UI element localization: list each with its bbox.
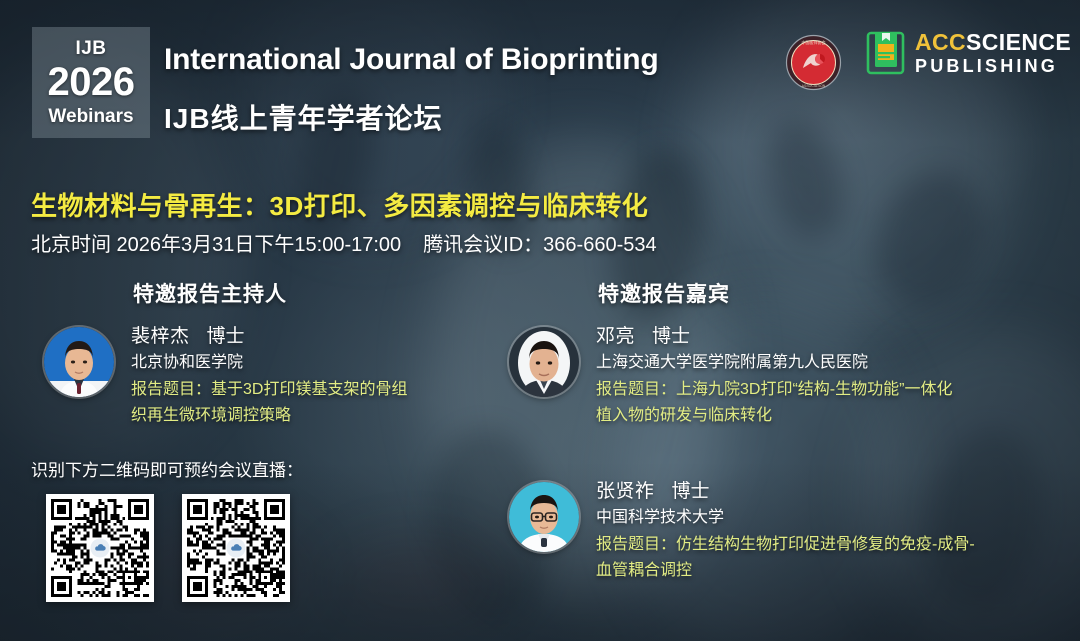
speaker-name-line: 张贤祚博士 bbox=[596, 482, 975, 501]
talk-line-1: 报告题目：上海九院3D打印“结构-生物功能”一体化 bbox=[596, 381, 952, 398]
speaker-degree: 博士 bbox=[652, 326, 690, 347]
avatar bbox=[509, 482, 579, 552]
guest-speaker-card-1: 邓亮博士 上海交通大学医学院附属第九人民医院 报告题目：上海九院3D打印“结构-… bbox=[509, 327, 952, 424]
badge-line-year: 2026 bbox=[48, 62, 135, 102]
qr-code-image[interactable] bbox=[182, 494, 290, 602]
journal-title-en: International Journal of Bioprinting bbox=[164, 43, 658, 77]
avatar bbox=[44, 327, 114, 397]
publishing-word: PUBLISHING bbox=[915, 57, 1071, 75]
wechat-cloud-icon bbox=[91, 539, 110, 558]
speaker-affiliation: 北京协和医学院 bbox=[131, 355, 407, 371]
svg-text:ASSOCIATION: ASSOCIATION bbox=[802, 84, 826, 88]
ijb-year-badge: IJB 2026 Webinars bbox=[32, 27, 150, 138]
talk-line-2: 植入物的研发与临床转化 bbox=[596, 408, 952, 424]
host-section-heading: 特邀报告主持人 bbox=[133, 278, 287, 308]
acc-word: ACC bbox=[915, 29, 966, 55]
talk-line-2: 血管耦合调控 bbox=[596, 563, 975, 579]
wechat-cloud-icon bbox=[227, 539, 246, 558]
speaker-degree: 博士 bbox=[672, 481, 710, 502]
speaker-name-line: 裴梓杰博士 bbox=[131, 327, 407, 346]
webinar-meta-line: 北京时间 2026年3月31日下午15:00-17:00腾讯会议ID：366-6… bbox=[31, 228, 657, 257]
green-book-icon bbox=[866, 30, 906, 76]
accscience-publishing-logo: ACCSCIENCE PUBLISHING bbox=[866, 30, 1071, 76]
host-speaker-card: 裴梓杰博士 北京协和医学院 报告题目：基于3D打印镁基支架的骨组 织再生微环境调… bbox=[44, 327, 407, 424]
speaker-affiliation: 中国科学技术大学 bbox=[596, 510, 975, 526]
speaker-name: 裴梓杰 bbox=[131, 326, 190, 347]
talk-line-1: 报告题目：仿生结构生物打印促进骨修复的免疫-成骨- bbox=[596, 536, 975, 553]
webinar-poster: IJB 2026 Webinars International Journal … bbox=[0, 0, 1080, 641]
talk-line-2: 织再生微环境调控策略 bbox=[131, 408, 407, 424]
speaker-affiliation: 上海交通大学医学院附属第九人民医院 bbox=[596, 355, 952, 371]
journal-title-zh: IJB线上青年学者论坛 bbox=[164, 97, 443, 137]
speaker-talk-title: 报告题目：仿生结构生物打印促进骨修复的免疫-成骨- 血管耦合调控 bbox=[596, 537, 975, 579]
qr-code-image[interactable] bbox=[46, 494, 154, 602]
science-word: SCIENCE bbox=[966, 29, 1071, 55]
guest-speaker-card-2: 张贤祚博士 中国科学技术大学 报告题目：仿生结构生物打印促进骨修复的免疫-成骨-… bbox=[509, 482, 975, 579]
speaker-name: 张贤祚 bbox=[596, 481, 655, 502]
badge-line-ijb: IJB bbox=[75, 39, 106, 58]
speaker-talk-title: 报告题目：基于3D打印镁基支架的骨组 织再生微环境调控策略 bbox=[131, 382, 407, 424]
meeting-id: 腾讯会议ID：366-660-534 bbox=[423, 234, 656, 256]
badge-line-webinars: Webinars bbox=[48, 107, 133, 126]
speaker-name-line: 邓亮博士 bbox=[596, 327, 952, 346]
webinar-datetime: 北京时间 2026年3月31日下午15:00-17:00 bbox=[31, 234, 401, 256]
red-circular-seal-logo: 中国医师协会 ASSOCIATION bbox=[785, 34, 842, 91]
qr-instruction-label: 识别下方二维码即可预约会议直播： bbox=[31, 456, 303, 481]
speaker-name: 邓亮 bbox=[596, 326, 635, 347]
webinar-topic-title: 生物材料与骨再生：3D打印、多因素调控与临床转化 bbox=[31, 186, 648, 223]
accscience-wordmark: ACCSCIENCE bbox=[915, 31, 1071, 54]
speaker-degree: 博士 bbox=[207, 326, 245, 347]
guest-section-heading: 特邀报告嘉宾 bbox=[598, 278, 730, 308]
qr-code-group bbox=[46, 494, 290, 602]
svg-text:中国医师协会: 中国医师协会 bbox=[802, 39, 826, 45]
talk-line-1: 报告题目：基于3D打印镁基支架的骨组 bbox=[131, 381, 407, 398]
avatar bbox=[509, 327, 579, 397]
speaker-talk-title: 报告题目：上海九院3D打印“结构-生物功能”一体化 植入物的研发与临床转化 bbox=[596, 382, 952, 424]
